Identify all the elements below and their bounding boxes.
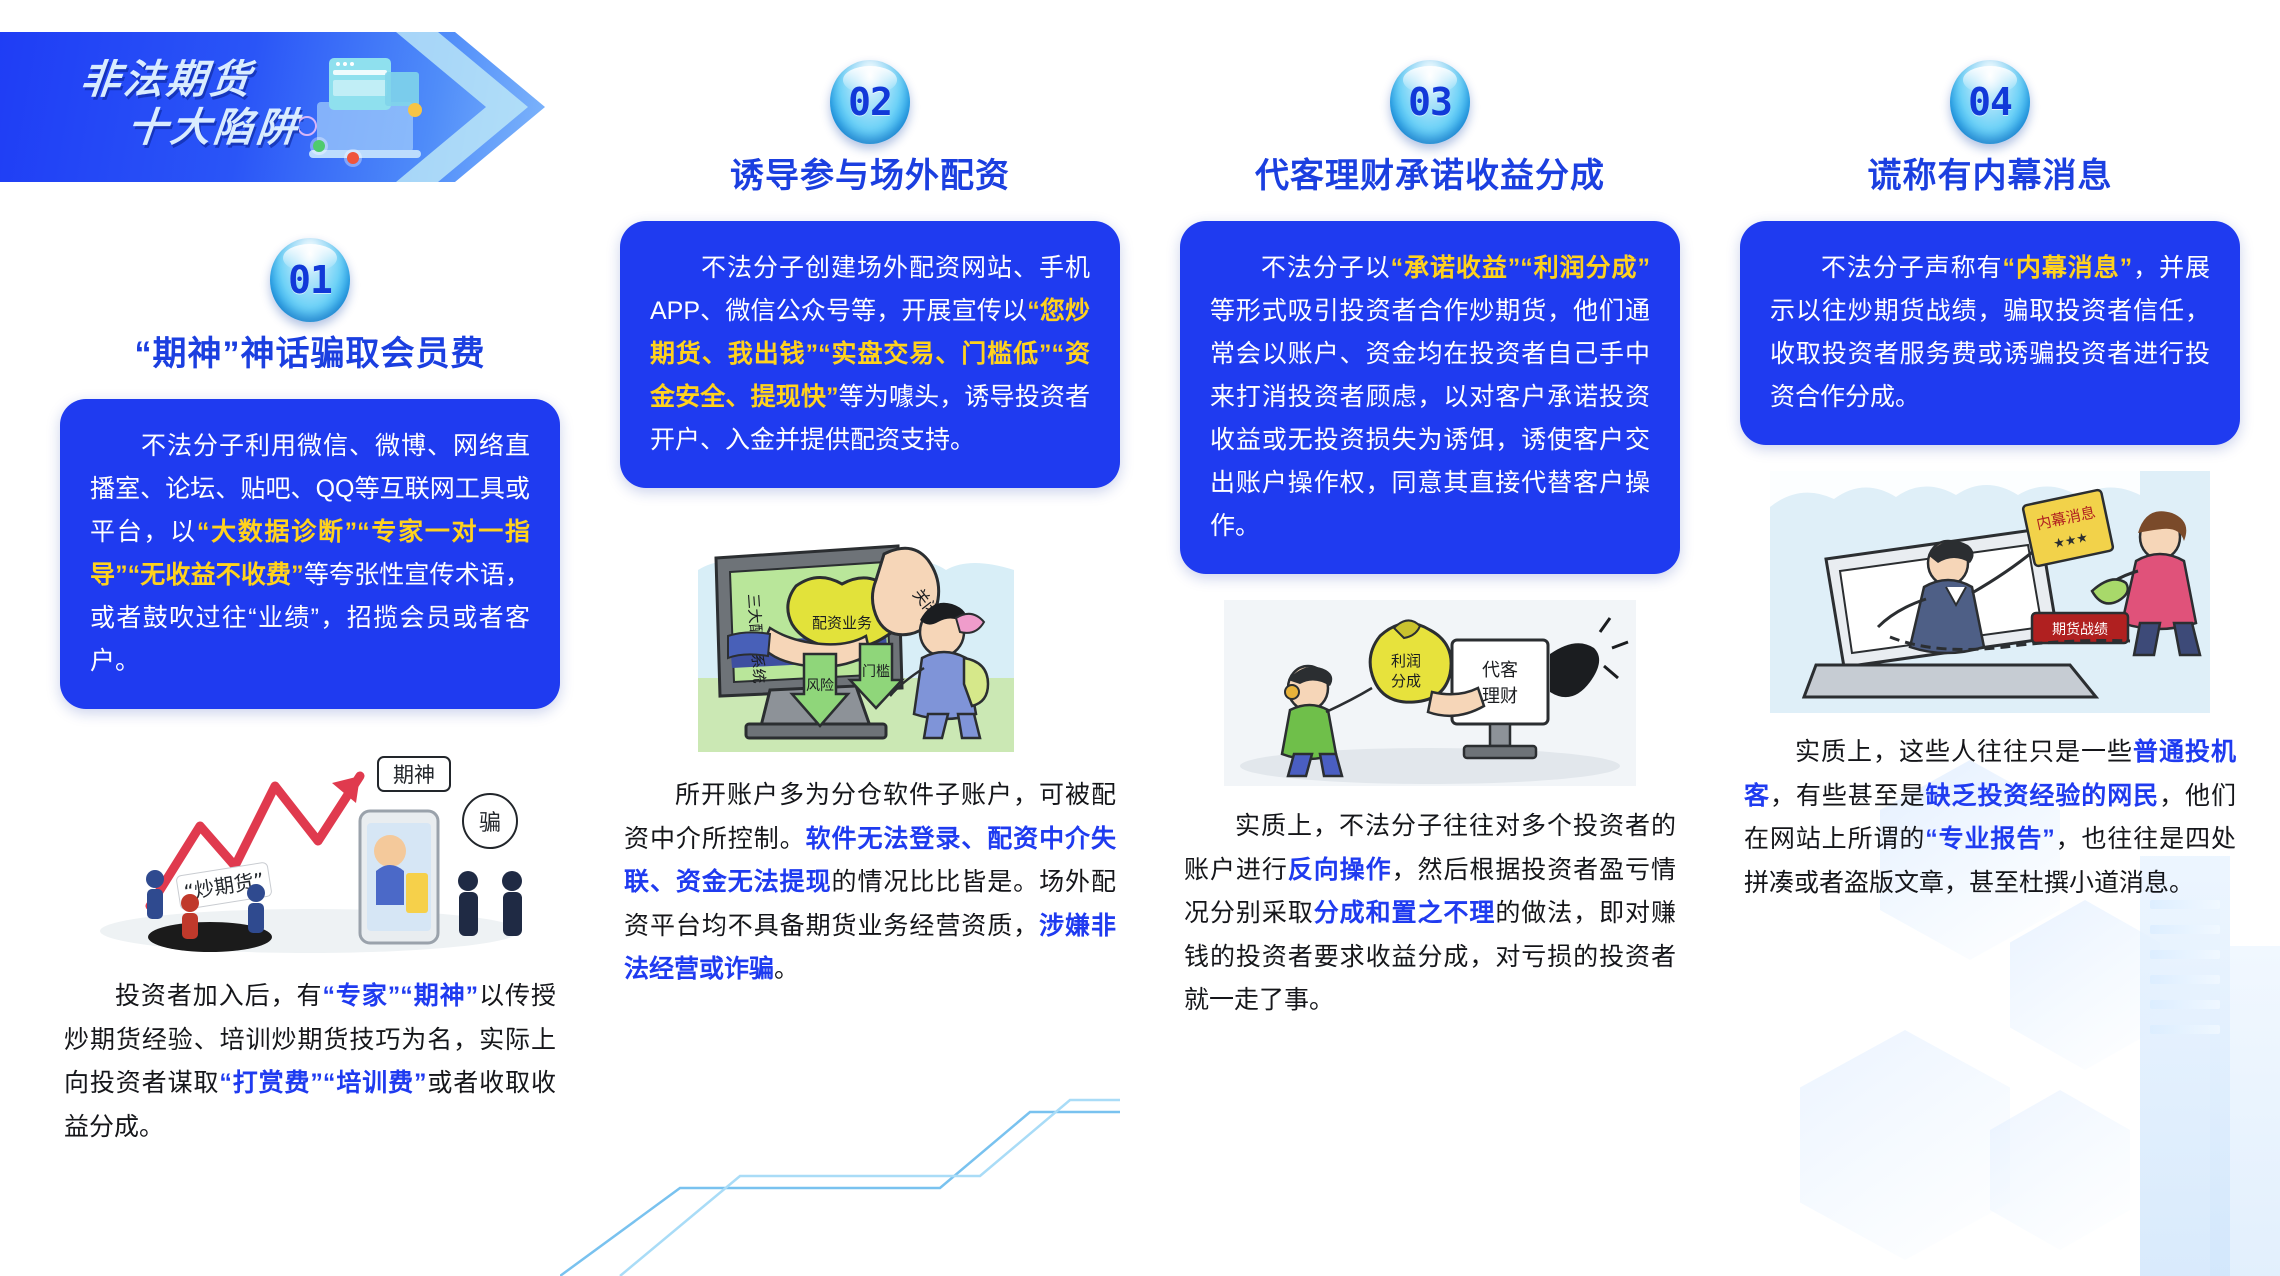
footer-text-03: 实质上，不法分子往往对多个投资者的账户进行反向操作，然后根据投资者盈亏情况分别采… (1180, 805, 1680, 1023)
foot-seg: ，有些甚至是 (1770, 782, 1926, 810)
description-box-03: 不法分子以“承诺收益”“利润分成”等形式吸引投资者合作炒期货，他们通常会以账户、… (1180, 221, 1680, 574)
chart-crash-phone-cartoon: “炒期货” 期神 骗 (60, 731, 560, 961)
foot-seg-highlight: “打赏费”“培训费” (219, 1069, 426, 1097)
number-badge-label: 01 (288, 258, 332, 302)
illustration-01: “炒期货” 期神 骗 (60, 731, 560, 961)
column-title-03: 代客理财承诺收益分成 (1180, 158, 1680, 195)
foot-seg-highlight: 缺乏投资经验的网民 (1926, 782, 2159, 810)
footer-text-04: 实质上，这些人往往只是一些普通投机客，有些甚至是缺乏投资经验的网民，他们在网站上… (1740, 731, 2240, 905)
svg-text:利润: 利润 (1391, 652, 1421, 670)
trap-column-02: 02 诱导参与场外配资 不法分子创建场外配资网站、手机APP、微信公众号等，开展… (620, 60, 1120, 992)
number-badge-label: 02 (848, 80, 892, 124)
desc-seg: 等形式吸引投资者合作炒期货，他们通常会以账户、资金均在投资者自己手中来打消投资者… (1210, 297, 1650, 540)
laptop-insider-news-cartoon: 内幕消息 ★★★ 期货战绩 (1740, 467, 2240, 717)
svg-text:骗: 骗 (479, 811, 501, 836)
column-title-04: 谎称有内幕消息 (1740, 158, 2240, 195)
description-box-04: 不法分子声称有“内幕消息”，并展示以往炒期货战绩，骗取投资者信任，收取投资者服务… (1740, 221, 2240, 445)
trap-column-03: 03 代客理财承诺收益分成 不法分子以“承诺收益”“利润分成”等形式吸引投资者合… (1180, 60, 1680, 1023)
svg-text:代客: 代客 (1482, 660, 1518, 681)
illustration-04: 内幕消息 ★★★ 期货战绩 (1740, 467, 2240, 717)
columns-container: 01 “期神”神话骗取会员费 不法分子利用微信、微博、网络直播室、论坛、贴吧、Q… (0, 0, 2280, 1276)
foot-seg: 。 (774, 955, 799, 983)
desc-seg-highlight: “承诺收益”“利润分成” (1391, 254, 1650, 282)
foot-seg-highlight: 反向操作 (1288, 856, 1392, 884)
column-title-01: “期神”神话骗取会员费 (60, 336, 560, 373)
svg-text:期货战绩: 期货战绩 (2052, 621, 2108, 638)
footer-text-02: 所开账户多为分仓软件子账户，可被配资中介所控制。软件无法登录、配资中介失联、资金… (620, 774, 1120, 992)
number-badge-04: 04 (1950, 60, 2030, 144)
desc-seg: 不法分子以 (1260, 254, 1391, 282)
number-badge-01: 01 (270, 238, 350, 322)
svg-text:配资业务: 配资业务 (812, 614, 872, 632)
number-badge-label: 03 (1408, 80, 1452, 124)
illustration-02: 三大配资系统 配资业务 关闭 风险 门槛 (620, 510, 1120, 760)
svg-text:分成: 分成 (1391, 672, 1421, 690)
foot-seg-highlight: “专业报告” (1925, 825, 2054, 853)
number-badge-03: 03 (1390, 60, 1470, 144)
desc-seg-highlight: “内幕消息” (2002, 254, 2132, 282)
description-box-02: 不法分子创建场外配资网站、手机APP、微信公众号等，开展宣传以“您炒期货、我出钱… (620, 221, 1120, 488)
trap-column-01: 01 “期神”神话骗取会员费 不法分子利用微信、微博、网络直播室、论坛、贴吧、Q… (60, 238, 560, 1149)
foot-seg: 实质上，这些人往往只是一些 (1794, 738, 2133, 766)
foot-seg-highlight: “专家”“期神” (322, 982, 478, 1010)
footer-text-01: 投资者加入后，有“专家”“期神”以传授炒期货经验、培训炒期货技巧为名，实际上向投… (60, 975, 560, 1149)
svg-text:期神: 期神 (393, 763, 435, 787)
desc-seg: 不法分子创建场外配资网站、手机APP、微信公众号等，开展宣传以 (650, 254, 1090, 325)
description-box-01: 不法分子利用微信、微博、网络直播室、论坛、贴吧、QQ等互联网工具或平台，以“大数… (60, 399, 560, 709)
svg-text:风险: 风险 (806, 678, 834, 694)
svg-text:理财: 理财 (1482, 686, 1518, 707)
foot-seg: 投资者加入后，有 (114, 982, 322, 1010)
foot-seg-highlight: 分成和置之不理 (1314, 899, 1496, 927)
monitor-money-bag-cartoon: 三大配资系统 配资业务 关闭 风险 门槛 (620, 510, 1120, 760)
illustration-03: 代客 理财 利润 分成 (1180, 596, 1680, 791)
number-badge-label: 04 (1968, 80, 2012, 124)
money-bag-agent-cartoon: 代客 理财 利润 分成 (1180, 596, 1680, 791)
column-title-02: 诱导参与场外配资 (620, 158, 1120, 195)
desc-seg: 不法分子声称有 (1820, 254, 2002, 282)
svg-text:门槛: 门槛 (862, 664, 890, 680)
number-badge-02: 02 (830, 60, 910, 144)
trap-column-04: 04 谎称有内幕消息 不法分子声称有“内幕消息”，并展示以往炒期货战绩，骗取投资… (1740, 60, 2240, 905)
